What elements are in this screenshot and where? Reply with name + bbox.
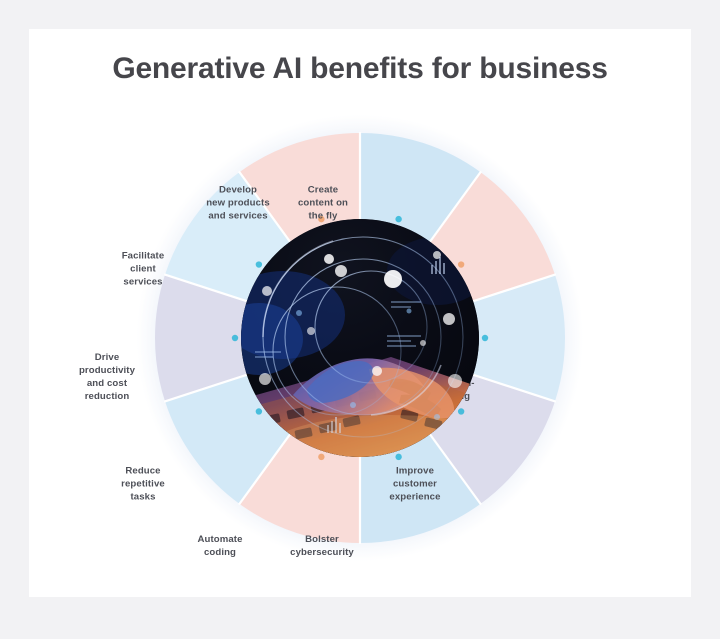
accent-dot <box>395 216 401 222</box>
page-title: Generative AI benefits for business <box>30 52 690 86</box>
segment-label-create-content-on-the-fly: Create content on the fly <box>275 184 371 223</box>
segment-label-facilitate-client-services: Facilitate client services <box>95 250 191 289</box>
segment-label-reduce-repetitive-tasks: Reduce repetitive tasks <box>95 465 191 504</box>
infographic-card: Generative AI benefits for business <box>30 30 690 596</box>
accent-dot <box>256 408 262 414</box>
center-image <box>241 219 479 457</box>
accent-dot <box>232 335 238 341</box>
segment-label-drive-productivity-and-cost-reduction: Drive productivity and cost reduction <box>59 351 155 403</box>
benefits-wheel: Create content on the flyGrow revenueBoo… <box>100 102 620 574</box>
accent-dot <box>318 454 324 460</box>
segment-label-automate-coding: Automate coding <box>172 533 268 559</box>
segment-label-improve-customer-experience: Improve customer experience <box>367 465 463 504</box>
accent-dot <box>482 335 488 341</box>
accent-dot <box>395 454 401 460</box>
accent-dot <box>458 408 464 414</box>
infographic-root: Generative AI benefits for business <box>0 0 720 639</box>
segment-label-develop-new-products-and-services: Develop new products and services <box>190 184 286 223</box>
segment-label-bolster-cybersecurity: Bolster cybersecurity <box>274 533 370 559</box>
accent-dot <box>256 261 262 267</box>
center-image-art <box>241 219 479 457</box>
